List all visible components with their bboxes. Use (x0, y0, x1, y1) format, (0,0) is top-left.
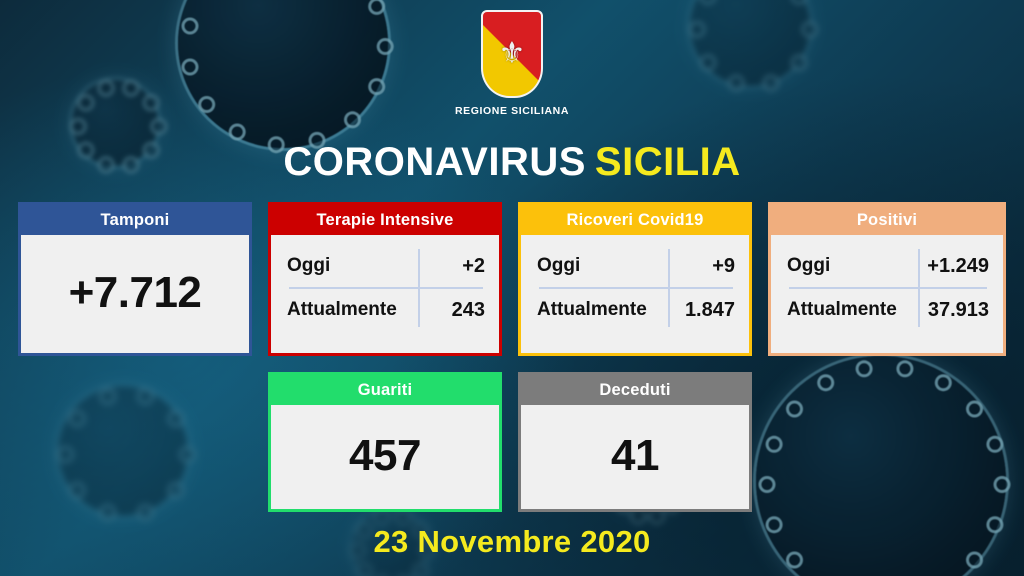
virus-spike (765, 435, 782, 452)
virus-spike (228, 123, 245, 140)
card-body: Oggi +1.249 Attualmente 37.913 (771, 235, 1003, 353)
stat-card-guariti: Guariti 457 (268, 372, 502, 512)
card-body: Oggi +2 Attualmente 243 (271, 235, 499, 353)
stat-row: Oggi +9 (537, 245, 735, 287)
virus-spike (699, 0, 716, 4)
virus-spike (758, 476, 775, 493)
report-date: 23 Novembre 2020 (0, 524, 1024, 560)
card-title: Terapie Intensive (271, 205, 499, 235)
virus-spike (790, 0, 807, 4)
stat-card-deceduti: Deceduti 41 (518, 372, 752, 512)
stat-card-positivi: Positivi Oggi +1.249 Attualmente 37.913 (768, 202, 1006, 356)
virus-particle-icon (58, 386, 188, 516)
sicilian-crest-icon: ⚜ (481, 10, 543, 98)
virus-spike (966, 400, 983, 417)
stat-row: Oggi +2 (287, 245, 485, 287)
row-value: +1.249 (915, 255, 989, 278)
stat-rows: Oggi +9 Attualmente 1.847 (537, 245, 735, 331)
stat-row: Attualmente 37.913 (787, 289, 989, 331)
virus-spike (412, 562, 429, 576)
infographic-canvas: ⚜ REGIONE SICILIANA CORONAVIRUSSICILIA T… (0, 0, 1024, 576)
row-label: Attualmente (287, 299, 415, 321)
virus-spike (934, 374, 951, 391)
card-body: +7.712 (21, 235, 249, 353)
virus-body (58, 386, 188, 516)
virus-spike (167, 410, 184, 427)
virus-spike (986, 435, 1003, 452)
virus-spike (99, 387, 116, 404)
card-body: 457 (271, 405, 499, 509)
virus-spike (69, 118, 86, 135)
emblem-caption: REGIONE SICILIANA (0, 105, 1024, 117)
title-highlight: SICILIA (595, 140, 741, 184)
page-title: CORONAVIRUSSICILIA (0, 140, 1024, 185)
title-primary: CORONAVIRUS (283, 140, 586, 184)
stat-value: 41 (521, 431, 749, 481)
row-label: Attualmente (787, 299, 915, 321)
virus-spike (786, 400, 803, 417)
virus-spike (136, 504, 153, 521)
row-value: +9 (665, 255, 735, 278)
row-label: Attualmente (537, 299, 665, 321)
card-body: Oggi +9 Attualmente 1.847 (521, 235, 749, 353)
stat-row: Oggi +1.249 (787, 245, 989, 287)
virus-spike (179, 446, 196, 463)
virus-spike (136, 387, 153, 404)
virus-spike (167, 481, 184, 498)
virus-spike (355, 562, 372, 576)
stat-rows: Oggi +2 Attualmente 243 (287, 245, 485, 331)
virus-spike (855, 360, 872, 377)
card-title: Ricoveri Covid19 (521, 205, 749, 235)
row-label: Oggi (787, 255, 915, 277)
virus-spike (993, 476, 1010, 493)
row-label: Oggi (287, 255, 415, 277)
stat-row: Attualmente 243 (287, 289, 485, 331)
stat-card-tamponi: Tamponi +7.712 (18, 202, 252, 356)
virus-spike (68, 481, 85, 498)
stat-card-terapie-intensive: Terapie Intensive Oggi +2 Attualmente 24… (268, 202, 502, 356)
row-value: 37.913 (915, 299, 989, 322)
region-emblem: ⚜ REGIONE SICILIANA (0, 10, 1024, 117)
row-value: 1.847 (665, 299, 735, 322)
card-title: Tamponi (21, 205, 249, 235)
stat-value: +7.712 (21, 268, 249, 318)
stat-value: 457 (271, 431, 499, 481)
virus-spike (817, 374, 834, 391)
row-value: 243 (415, 299, 485, 322)
row-value: +2 (415, 255, 485, 278)
stat-card-ricoveri-covid19: Ricoveri Covid19 Oggi +9 Attualmente 1.8… (518, 202, 752, 356)
row-label: Oggi (537, 255, 665, 277)
virus-spike (896, 360, 913, 377)
stat-row: Attualmente 1.847 (537, 289, 735, 331)
virus-spike (56, 446, 73, 463)
stat-rows: Oggi +1.249 Attualmente 37.913 (787, 245, 989, 331)
virus-spike (99, 504, 116, 521)
trinacria-icon: ⚜ (499, 39, 526, 69)
card-title: Deceduti (521, 375, 749, 405)
virus-spike (68, 410, 85, 427)
card-title: Guariti (271, 375, 499, 405)
card-body: 41 (521, 405, 749, 509)
card-title: Positivi (771, 205, 1003, 235)
virus-spike (150, 118, 167, 135)
